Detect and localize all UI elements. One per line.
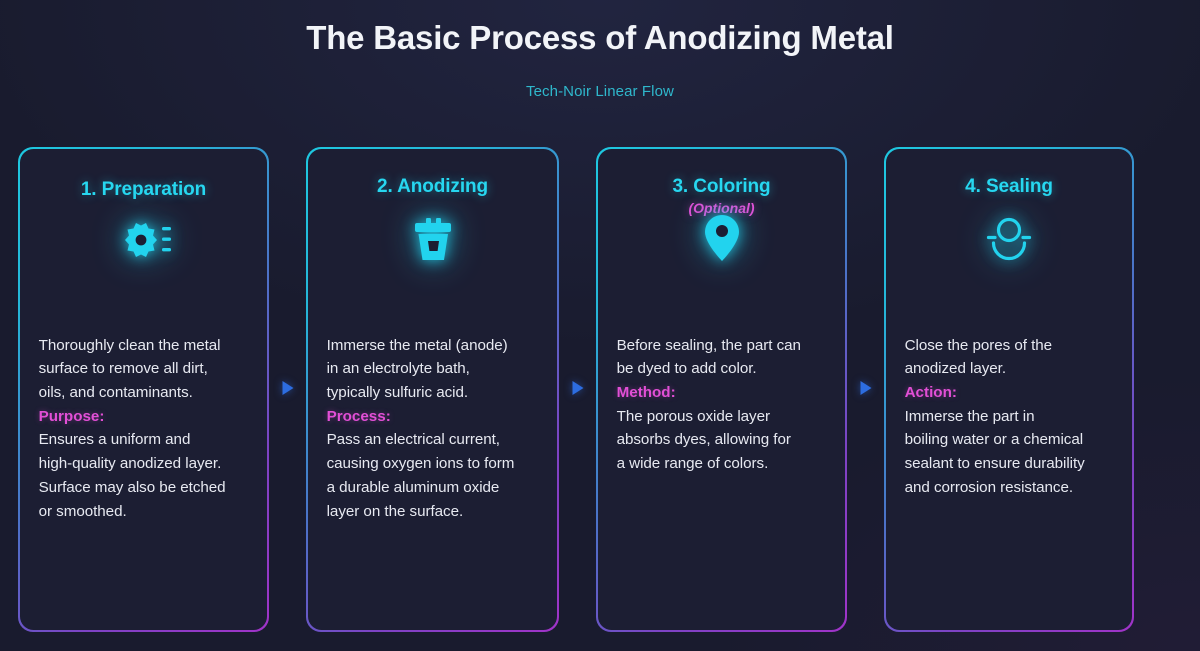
body-line: oils, and contaminants.	[39, 381, 251, 405]
step-body: Close the pores of the anodized layer. A…	[886, 334, 1133, 500]
triangle-right-icon	[572, 381, 583, 395]
body-line: absorbs dyes, allowing for	[617, 428, 829, 452]
step-card-border: 4. Sealing Close the	[884, 147, 1134, 632]
body-line: The porous oxide layer	[617, 405, 829, 429]
body-line: a durable aluminum oxide	[327, 476, 541, 500]
step-icon	[20, 212, 268, 270]
step-icon	[598, 209, 846, 267]
body-line: Surface may also be etched	[39, 476, 251, 500]
body-line: Thoroughly clean the metal	[39, 334, 251, 358]
step-card-inner: 3. Coloring (Optional) Before sealing, t…	[598, 149, 846, 631]
step-card-4[interactable]: 4. Sealing Close the	[884, 147, 1134, 632]
step-card-border: 1. Preparation	[18, 147, 269, 632]
step-body: Immerse the metal (anode) in an electrol…	[308, 334, 558, 524]
body-line: in an electrolyte bath,	[327, 357, 541, 381]
body-line: sealant to ensure durability	[905, 452, 1116, 476]
step-header: 1. Preparation	[20, 149, 268, 202]
step-icon	[308, 211, 558, 269]
body-line: Before sealing, the part can	[617, 334, 829, 358]
body-line: anodized layer.	[905, 357, 1116, 381]
page-subtitle: Tech-Noir Linear Flow	[0, 83, 1200, 100]
process-flow: 1. Preparation	[0, 147, 1200, 637]
step-title: 1. Preparation	[20, 179, 268, 202]
body-line: be dyed to add color.	[617, 357, 829, 381]
step-icon	[886, 211, 1133, 269]
step-title: 3. Coloring	[598, 176, 846, 199]
seal-circle-arc-icon	[986, 216, 1032, 264]
connector-arrow-2	[559, 147, 596, 632]
body-line: a wide range of colors.	[617, 452, 829, 476]
step-header: 3. Coloring (Optional)	[598, 149, 846, 217]
step-card-inner: 4. Sealing Close the	[886, 149, 1133, 631]
page-title: The Basic Process of Anodizing Metal	[0, 17, 1200, 58]
step-card-1[interactable]: 1. Preparation	[18, 147, 269, 632]
step-header: 4. Sealing	[886, 149, 1133, 199]
bucket-bath-icon	[412, 218, 454, 262]
header: The Basic Process of Anodizing Metal Tec…	[0, 0, 1200, 100]
step-card-inner: 2. Anodizing	[308, 149, 558, 631]
body-label: Action:	[905, 381, 1116, 405]
body-line: high-quality anodized layer.	[39, 452, 251, 476]
triangle-right-icon	[860, 381, 871, 395]
step-card-3[interactable]: 3. Coloring (Optional) Before sealing, t…	[596, 147, 847, 632]
body-line: Immerse the metal (anode)	[327, 334, 541, 358]
step-title: 2. Anodizing	[308, 176, 558, 199]
body-label: Process:	[327, 405, 541, 429]
step-card-inner: 1. Preparation	[20, 149, 268, 631]
step-header: 2. Anodizing	[308, 149, 558, 199]
infographic-page: The Basic Process of Anodizing Metal Tec…	[0, 0, 1200, 651]
body-line: layer on the surface.	[327, 500, 541, 524]
step-card-border: 3. Coloring (Optional) Before sealing, t…	[596, 147, 847, 632]
body-line: Ensures a uniform and	[39, 428, 251, 452]
body-line: causing oxygen ions to form	[327, 452, 541, 476]
body-line: and corrosion resistance.	[905, 476, 1116, 500]
body-line: surface to remove all dirt,	[39, 357, 251, 381]
step-title: 4. Sealing	[886, 176, 1133, 199]
connector-arrow-1	[269, 147, 306, 632]
body-line: Close the pores of the	[905, 334, 1116, 358]
step-body: Thoroughly clean the metal surface to re…	[20, 334, 268, 524]
step-card-border: 2. Anodizing	[306, 147, 559, 632]
body-line: typically sulfuric acid.	[327, 381, 541, 405]
body-label: Purpose:	[39, 405, 251, 429]
body-label: Method:	[617, 381, 829, 405]
connector-arrow-3	[847, 147, 884, 632]
body-line: or smoothed.	[39, 500, 251, 524]
triangle-right-icon	[282, 381, 293, 395]
body-line: Pass an electrical current,	[327, 428, 541, 452]
gear-sliders-icon	[116, 221, 172, 261]
body-line: Immerse the part in	[905, 405, 1116, 429]
map-pin-icon	[703, 214, 741, 262]
step-card-2[interactable]: 2. Anodizing	[306, 147, 559, 632]
step-body: Before sealing, the part can be dyed to …	[598, 334, 846, 476]
body-line: boiling water or a chemical	[905, 428, 1116, 452]
